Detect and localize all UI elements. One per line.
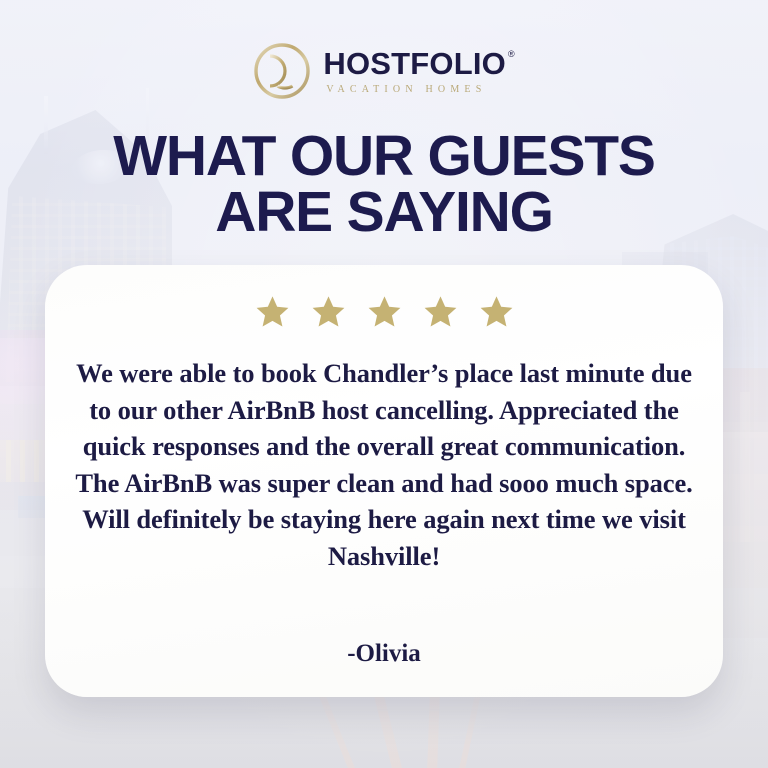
testimonial-quote: We were able to book Chandler’s place la…	[73, 355, 695, 574]
headline-line-2: ARE SAYING	[0, 184, 768, 240]
star-icon	[311, 294, 346, 329]
testimonial-graphic: HOSTFOLIO ® VACATION HOMES WHAT OUR GUES…	[0, 0, 768, 768]
star-icon	[423, 294, 458, 329]
star-icon	[479, 294, 514, 329]
star-icon	[367, 294, 402, 329]
brand-logo-lockup: HOSTFOLIO ® VACATION HOMES	[0, 42, 768, 100]
brand-name: HOSTFOLIO	[323, 48, 506, 79]
brand-wordmark: HOSTFOLIO ® VACATION HOMES	[323, 48, 514, 95]
page-title: WHAT OUR GUESTS ARE SAYING	[0, 128, 768, 241]
brand-tagline: VACATION HOMES	[326, 84, 486, 95]
testimonial-card: We were able to book Chandler’s place la…	[45, 265, 723, 697]
star-rating	[45, 294, 723, 329]
registered-trademark-icon: ®	[508, 50, 515, 59]
brand-name-row: HOSTFOLIO ®	[323, 48, 514, 79]
headline-line-1: WHAT OUR GUESTS	[113, 124, 654, 188]
star-icon	[255, 294, 290, 329]
hostfolio-circle-h-monogram-icon	[253, 42, 311, 100]
testimonial-author: -Olivia	[45, 640, 723, 668]
content-layer: HOSTFOLIO ® VACATION HOMES WHAT OUR GUES…	[0, 0, 768, 768]
